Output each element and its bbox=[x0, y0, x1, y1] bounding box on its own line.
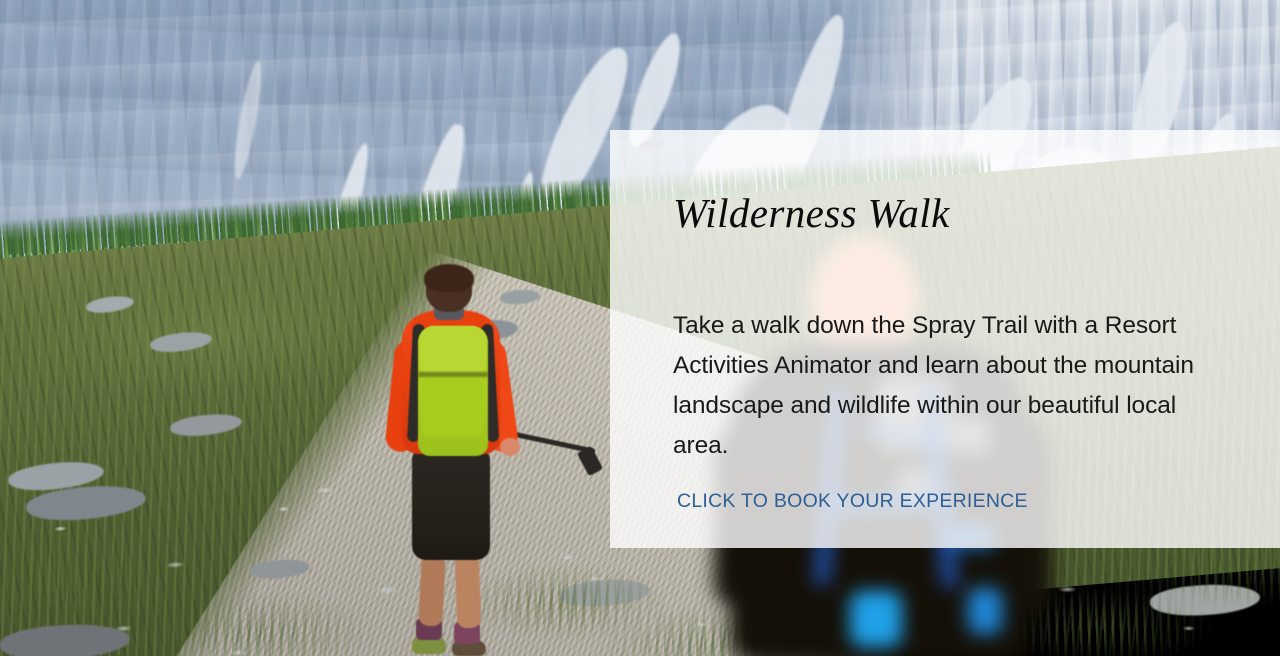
foreground-pack-blue-pocket bbox=[968, 588, 1002, 634]
leg-left bbox=[418, 553, 446, 626]
promo-title: Wilderness Walk bbox=[673, 193, 950, 234]
hiker-hair bbox=[424, 264, 474, 292]
promo-description: Take a walk down the Spray Trail with a … bbox=[673, 306, 1229, 466]
hero-banner: Wilderness Walk Take a walk down the Spr… bbox=[0, 0, 1280, 656]
backpack-lower-pocket bbox=[422, 380, 484, 436]
promo-panel: Wilderness Walk Take a walk down the Spr… bbox=[610, 130, 1280, 548]
foreground-pack-blue-pocket bbox=[850, 591, 902, 647]
promo-panel-content: Wilderness Walk Take a walk down the Spr… bbox=[673, 130, 1234, 548]
hiking-shorts bbox=[412, 448, 490, 560]
leg-right bbox=[455, 554, 482, 629]
hiker-figure bbox=[360, 262, 590, 656]
backpack-lid bbox=[420, 326, 486, 372]
backpack-seam bbox=[418, 372, 488, 377]
hand-right bbox=[500, 438, 520, 456]
book-experience-link[interactable]: CLICK TO BOOK YOUR EXPERIENCE bbox=[677, 489, 1028, 513]
